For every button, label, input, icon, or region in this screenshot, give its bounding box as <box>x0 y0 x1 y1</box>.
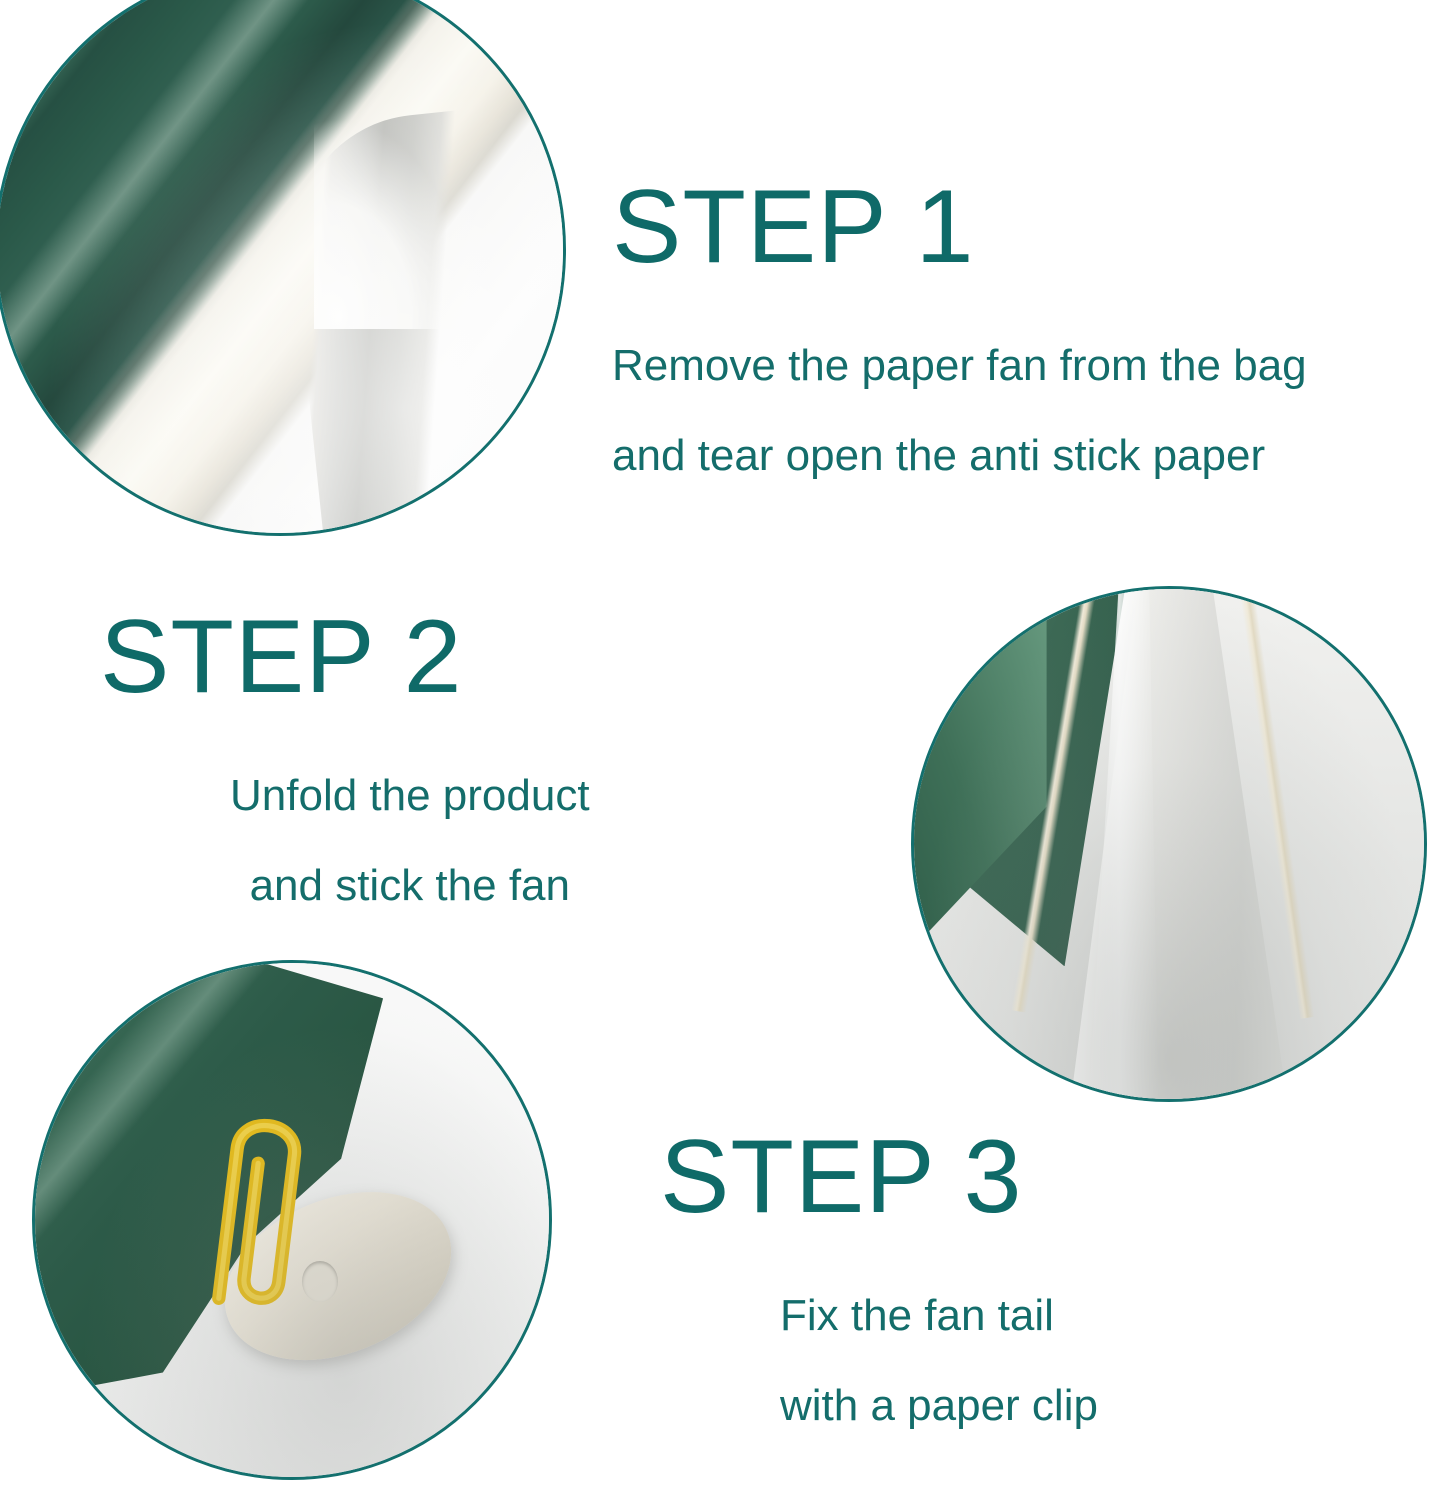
step-1-line-2: and tear open the anti stick paper <box>612 431 1307 481</box>
step-3-line-2: with a paper clip <box>780 1381 1098 1431</box>
step-2-line-1: Unfold the product <box>230 771 590 821</box>
step-3-text-block: STEP 3 Fix the fan tail with a paper cli… <box>660 1125 1098 1431</box>
step-2-title: STEP 2 <box>100 605 590 709</box>
step-3-title: STEP 3 <box>660 1125 1098 1229</box>
photo-shadow <box>35 963 549 1477</box>
unfolded-fan-photo <box>911 586 1427 1102</box>
step-2-text-block: STEP 2 Unfold the product and stick the … <box>100 605 590 911</box>
photo-gloss-highlight <box>0 0 563 533</box>
photo-shadow <box>914 589 1424 1099</box>
step-1-title: STEP 1 <box>612 175 1307 279</box>
step-1-text-block: STEP 1 Remove the paper fan from the bag… <box>612 175 1307 481</box>
instruction-infographic: STEP 1 Remove the paper fan from the bag… <box>0 0 1437 1500</box>
step-1-line-1: Remove the paper fan from the bag <box>612 341 1307 391</box>
step-2-line-2: and stick the fan <box>230 861 590 911</box>
paper-clip-fan-tail-photo <box>32 960 552 1480</box>
step-3-line-1: Fix the fan tail <box>780 1291 1098 1341</box>
paper-fan-in-bag-photo <box>0 0 566 536</box>
